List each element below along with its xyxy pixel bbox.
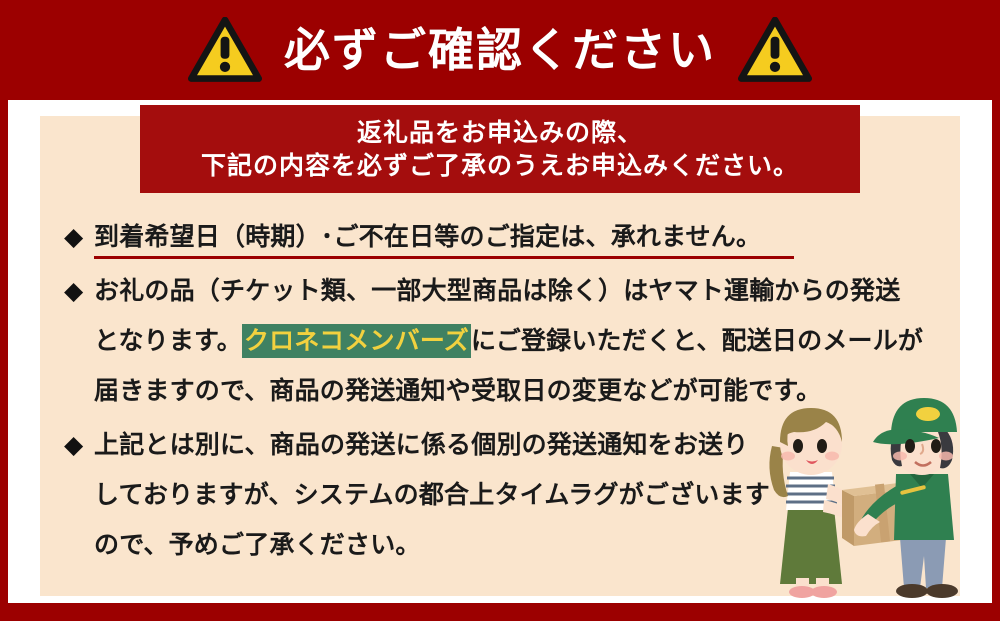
notice-item-1: ◆到着希望日（時期）･ご不在日等のご指定は、承れません。 [64,212,944,262]
notice-text: 到着希望日（時期）･ご不在日等のご指定は、承れません。 [94,222,761,251]
subbanner: 返礼品をお申込みの際、 下記の内容を必ずご了承のうえお申込みください。 [140,105,860,193]
notice-text: 届きますので、商品の発送通知や受取日の変更などが可能です。 [94,376,821,405]
red-underline [94,256,794,259]
poster-header: 必ずご確認ください [0,0,1000,100]
warning-triangle-icon [188,17,262,83]
bullet-marker: ◆ [64,212,94,262]
warning-triangle-icon [738,17,812,83]
bullet-marker: ◆ [64,420,94,470]
frame-bottom-bar [0,603,1000,621]
kuroneko-members-highlight: クロネコメンバーズ [242,324,471,358]
notice-line: ◆到着希望日（時期）･ご不在日等のご指定は、承れません。 [64,212,944,262]
page-title: 必ずご確認ください [284,27,716,73]
notice-text: しておりますが、システムの都合上タイムラグがございます [94,480,770,509]
delivery-handover-illustration [750,388,980,603]
notice-line: となります。クロネコメンバーズにご登録いただくと、配送日のメールが [64,316,944,366]
subbanner-line-1: 返礼品をお申込みの際、 [357,118,643,148]
notice-line: ◆お礼の品（チケット類、一部大型商品は除く）はヤマト運輸からの発送 [64,266,944,316]
notice-text-continued: にご登録いただくと、配送日のメールが [471,326,923,355]
notice-text: となります。 [94,326,242,355]
notice-text: 上記とは別に、商品の発送に係る個別の発送通知をお送り [94,430,748,459]
notice-poster: 必ずご確認ください 返礼品をお申込みの際、 下記の内容を必ずご了承のうえお申込み… [0,0,1000,621]
notice-text: ので、予めご了承ください。 [94,530,421,559]
bullet-marker: ◆ [64,266,94,316]
subbanner-line-2: 下記の内容を必ずご了承のうえお申込みください。 [201,151,799,181]
notice-text: お礼の品（チケット類、一部大型商品は除く）はヤマト運輸からの発送 [94,276,900,305]
